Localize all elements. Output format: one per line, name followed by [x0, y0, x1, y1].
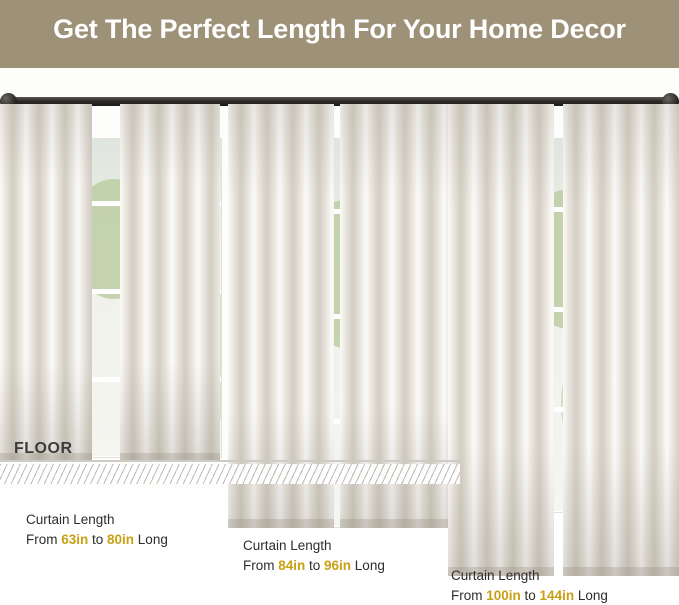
- caption-short-range: From 63in to 80in Long: [26, 530, 168, 550]
- caption-long-from-word: From: [451, 588, 486, 603]
- caption-short-to-word: to: [88, 532, 107, 547]
- curtain-shading: [0, 104, 92, 462]
- caption-medium-from-word: From: [243, 558, 278, 573]
- curtain-shading: [120, 104, 220, 462]
- caption-short-from-word: From: [26, 532, 61, 547]
- caption-medium-suffix: Long: [351, 558, 385, 573]
- caption-medium-from-value: 84in: [278, 558, 305, 573]
- caption-long-suffix: Long: [574, 588, 608, 603]
- curtain-hem: [340, 519, 448, 528]
- floor-hatching: [0, 464, 460, 484]
- header-banner: Get The Perfect Length For Your Home Dec…: [0, 0, 679, 68]
- curtain-panel-long-left: [448, 104, 554, 576]
- caption-short-from-value: 63in: [61, 532, 88, 547]
- curtain-panel-short-right: [120, 104, 220, 462]
- curtain-shading: [448, 104, 554, 576]
- caption-medium-title: Curtain Length: [243, 536, 385, 556]
- caption-long-to-value: 144in: [540, 588, 575, 603]
- scene: FLOOR Curtain Length From 63in to 80in L…: [0, 68, 679, 605]
- caption-medium-to-word: to: [305, 558, 324, 573]
- curtain-panel-long-right: [563, 104, 679, 576]
- caption-long-from-value: 100in: [486, 588, 521, 603]
- floor-line: [0, 460, 460, 462]
- curtain-panel-short-left: [0, 104, 92, 462]
- floor-label: FLOOR: [14, 440, 73, 458]
- curtain-shading: [563, 104, 679, 576]
- caption-short-to-value: 80in: [107, 532, 134, 547]
- caption-long-title: Curtain Length: [451, 566, 608, 586]
- caption-medium-range: From 84in to 96in Long: [243, 556, 385, 576]
- page-title: Get The Perfect Length For Your Home Dec…: [0, 14, 679, 45]
- caption-long-range: From 100in to 144in Long: [451, 586, 608, 605]
- curtain-hem: [228, 519, 334, 528]
- caption-short-title: Curtain Length: [26, 510, 168, 530]
- caption-short: Curtain Length From 63in to 80in Long: [26, 510, 168, 549]
- caption-long-to-word: to: [521, 588, 540, 603]
- caption-short-suffix: Long: [134, 532, 168, 547]
- caption-medium-to-value: 96in: [324, 558, 351, 573]
- caption-long: Curtain Length From 100in to 144in Long: [451, 566, 608, 605]
- product-infographic: Get The Perfect Length For Your Home Dec…: [0, 0, 679, 605]
- caption-medium: Curtain Length From 84in to 96in Long: [243, 536, 385, 575]
